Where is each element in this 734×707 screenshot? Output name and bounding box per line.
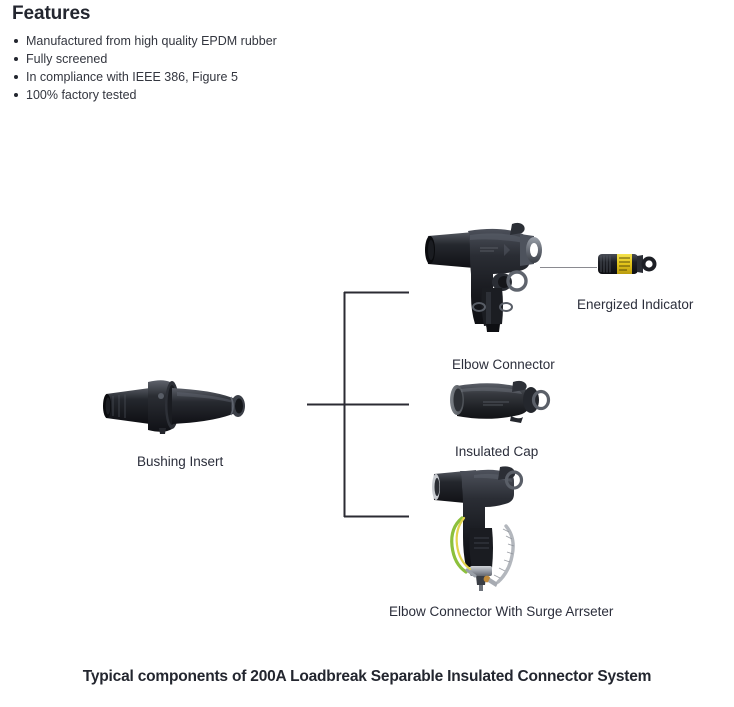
energized-indicator-image	[597, 249, 659, 279]
feature-text: 100% factory tested	[26, 88, 136, 102]
braid-end-lug	[488, 578, 498, 587]
bushing-flange-bottom-tab	[159, 428, 166, 434]
feature-list-item: In compliance with IEEE 386, Figure 5	[12, 68, 432, 86]
cap-bottom-tab	[510, 416, 523, 423]
insulated-cap-image	[447, 378, 551, 430]
feature-list-item: Fully screened	[12, 50, 432, 68]
bushing-flange-stud	[158, 393, 164, 399]
surge-elbow-lower-shaft	[469, 528, 493, 570]
bullet-icon	[14, 39, 18, 43]
feature-list-item: 100% factory tested	[12, 86, 432, 104]
bullet-icon	[14, 75, 18, 79]
elbow-connector-image	[424, 214, 548, 332]
label-insulated-cap: Insulated Cap	[455, 443, 538, 461]
feature-text: Manufactured from high quality EPDM rubb…	[26, 34, 277, 48]
label-elbow-connector: Elbow Connector	[452, 356, 555, 374]
elbow-lower-tip	[486, 324, 500, 332]
label-elbow-connector-surge-arrester: Elbow Connector With Surge Arrseter	[389, 603, 613, 621]
elbow-connector-surge-arrester-image	[432, 466, 566, 592]
bracket-connector-lines	[307, 292, 409, 517]
features-list: Manufactured from high quality EPDM rubb…	[12, 32, 432, 104]
bushing-insert-image	[103, 374, 271, 442]
indicator-yellow-band	[617, 254, 632, 274]
elbow-top-nub	[510, 223, 525, 235]
feature-text: Fully screened	[26, 52, 107, 66]
figure-caption: Typical components of 200A Loadbreak Sep…	[0, 668, 734, 686]
feature-list-item: Manufactured from high quality EPDM rubb…	[12, 32, 432, 50]
bullet-icon	[14, 57, 18, 61]
features-section: Features Manufactured from high quality …	[12, 2, 432, 104]
features-heading: Features	[12, 2, 432, 26]
braided-drain-strap	[498, 526, 513, 582]
label-energized-indicator: Energized Indicator	[577, 296, 693, 314]
label-bushing-insert: Bushing Insert	[137, 453, 223, 471]
feature-text: In compliance with IEEE 386, Figure 5	[26, 70, 238, 84]
bullet-icon	[14, 93, 18, 97]
bushing-left-cone	[105, 388, 150, 424]
cap-pulling-eye	[523, 387, 549, 413]
